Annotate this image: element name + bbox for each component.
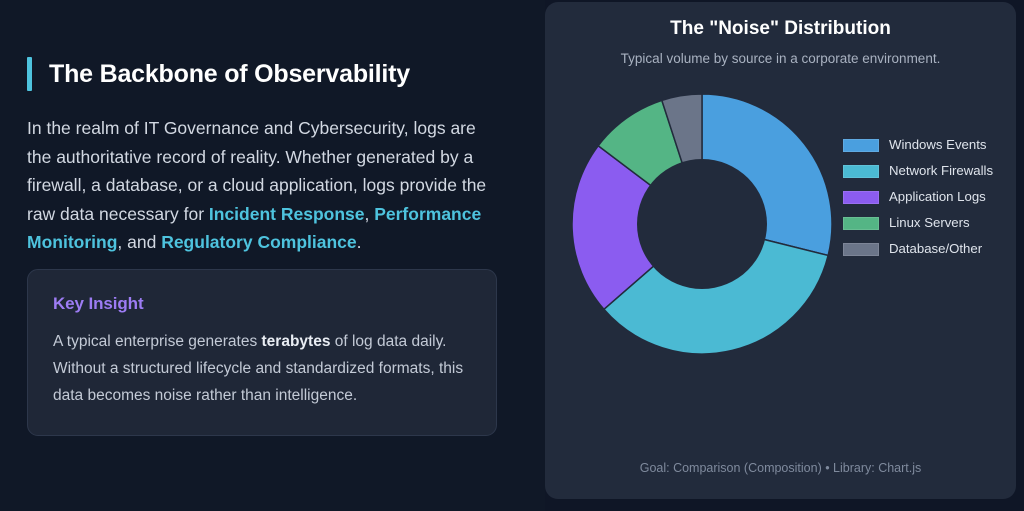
legend-swatch [843,217,879,230]
key-insight-card: Key Insight A typical enterprise generat… [27,269,497,436]
legend-item[interactable]: Application Logs [843,188,993,205]
legend-label: Linux Servers [889,214,970,231]
legend-swatch [843,243,879,256]
legend-swatch [843,191,879,204]
page-title-row: The Backbone of Observability [27,57,517,91]
key-insight-title: Key Insight [53,294,471,314]
left-content-column: The Backbone of Observability In the rea… [0,0,545,511]
title-accent-bar [27,57,32,91]
paragraph-text-3: , and [117,232,161,252]
page-title: The Backbone of Observability [49,57,410,91]
link-regulatory-compliance[interactable]: Regulatory Compliance [161,232,356,252]
paragraph-text-2: , [364,204,374,224]
donut-center-hole [637,159,767,289]
legend-label: Windows Events [889,136,986,153]
legend-swatch [843,165,879,178]
key-insight-body: A typical enterprise generates terabytes… [53,328,477,409]
legend-label: Network Firewalls [889,162,993,179]
page-root: The Backbone of Observability In the rea… [0,0,1024,511]
legend-item[interactable]: Linux Servers [843,214,993,231]
key-insight-emphasis: terabytes [262,333,331,350]
donut-chart[interactable] [572,94,832,354]
chart-legend: Windows EventsNetwork FirewallsApplicati… [843,136,993,257]
legend-item[interactable]: Database/Other [843,240,993,257]
link-incident-response[interactable]: Incident Response [209,204,365,224]
legend-item[interactable]: Network Firewalls [843,162,993,179]
intro-paragraph: In the realm of IT Governance and Cybers… [27,114,501,257]
chart-footer-note: Goal: Comparison (Composition) • Library… [545,461,1016,475]
chart-title: The "Noise" Distribution [545,18,1016,40]
key-insight-text-1: A typical enterprise generates [53,333,262,350]
legend-label: Database/Other [889,240,982,257]
legend-item[interactable]: Windows Events [843,136,993,153]
paragraph-text-4: . [357,232,362,252]
legend-swatch [843,139,879,152]
legend-label: Application Logs [889,188,986,205]
chart-panel: The "Noise" Distribution Typical volume … [545,2,1016,499]
chart-area: Windows EventsNetwork FirewallsApplicati… [545,74,1016,404]
chart-subtitle: Typical volume by source in a corporate … [545,51,1016,66]
